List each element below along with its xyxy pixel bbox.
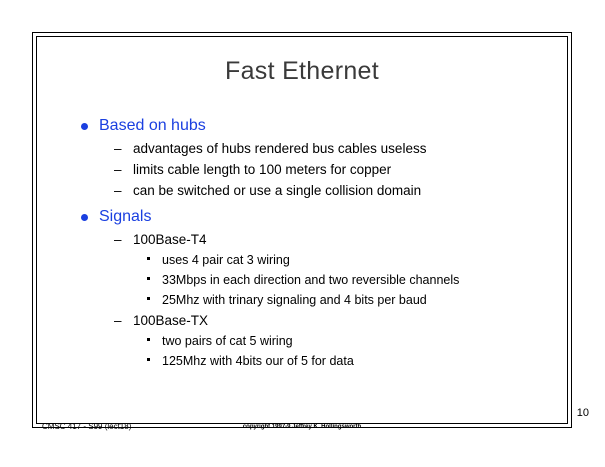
- bullet-dash-icon: –: [114, 180, 122, 201]
- slide-body: Based on hubs – advantages of hubs rende…: [73, 116, 553, 371]
- bullet-level2-100base-t4: – 100Base-T4: [73, 229, 553, 250]
- bullet-square-icon: [147, 277, 150, 280]
- bullet-level2-100base-tx: – 100Base-TX: [73, 310, 553, 331]
- bullet-level1-label: Based on hubs: [99, 117, 206, 134]
- bullet-level3-item: two pairs of cat 5 wiring: [73, 331, 553, 351]
- bullet-level3-item: 33Mbps in each direction and two reversi…: [73, 270, 553, 290]
- bullet-level3-label: 33Mbps in each direction and two reversi…: [162, 273, 459, 287]
- bullet-level3-label: 25Mhz with trinary signaling and 4 bits …: [162, 293, 427, 307]
- bullet-level2-label: 100Base-T4: [133, 232, 207, 247]
- bullet-level2-item: – limits cable length to 100 meters for …: [73, 159, 553, 180]
- bullet-dash-icon: –: [114, 138, 122, 159]
- bullet-dash-icon: –: [114, 310, 122, 331]
- bullet-level1-label: Signals: [99, 208, 151, 225]
- bullet-level3-item: 125Mhz with 4bits our of 5 for data: [73, 351, 553, 371]
- bullet-level1-signals: Signals: [73, 207, 553, 227]
- slide-inner-border: Fast Ethernet Based on hubs – advantages…: [36, 36, 568, 424]
- bullet-level2-label: limits cable length to 100 meters for co…: [133, 162, 391, 177]
- bullet-square-icon: [147, 257, 150, 260]
- bullet-level3-item: 25Mhz with trinary signaling and 4 bits …: [73, 290, 553, 310]
- footer-page-number: 10: [577, 407, 589, 419]
- footer-copyright-label: copyright 1997-9 Jeffrey K. Hollingswort…: [37, 424, 567, 430]
- page-title: Fast Ethernet: [37, 57, 567, 86]
- bullet-level3-label: uses 4 pair cat 3 wiring: [162, 253, 290, 267]
- bullet-level2-item: – can be switched or use a single collis…: [73, 180, 553, 201]
- bullet-level2-item: – advantages of hubs rendered bus cables…: [73, 138, 553, 159]
- bullet-square-icon: [147, 358, 150, 361]
- bullet-dash-icon: –: [114, 159, 122, 180]
- bullet-dot-icon: [81, 123, 88, 130]
- bullet-square-icon: [147, 297, 150, 300]
- bullet-dot-icon: [81, 214, 88, 221]
- bullet-dash-icon: –: [114, 229, 122, 250]
- bullet-level2-label: 100Base-TX: [133, 313, 208, 328]
- slide-frame: Fast Ethernet Based on hubs – advantages…: [32, 32, 572, 428]
- bullet-square-icon: [147, 338, 150, 341]
- bullet-level3-item: uses 4 pair cat 3 wiring: [73, 250, 553, 270]
- bullet-level2-label: can be switched or use a single collisio…: [133, 183, 421, 198]
- bullet-level3-label: 125Mhz with 4bits our of 5 for data: [162, 354, 354, 368]
- bullet-level2-label: advantages of hubs rendered bus cables u…: [133, 141, 426, 156]
- bullet-level3-label: two pairs of cat 5 wiring: [162, 334, 293, 348]
- bullet-level1-based-on-hubs: Based on hubs: [73, 116, 553, 136]
